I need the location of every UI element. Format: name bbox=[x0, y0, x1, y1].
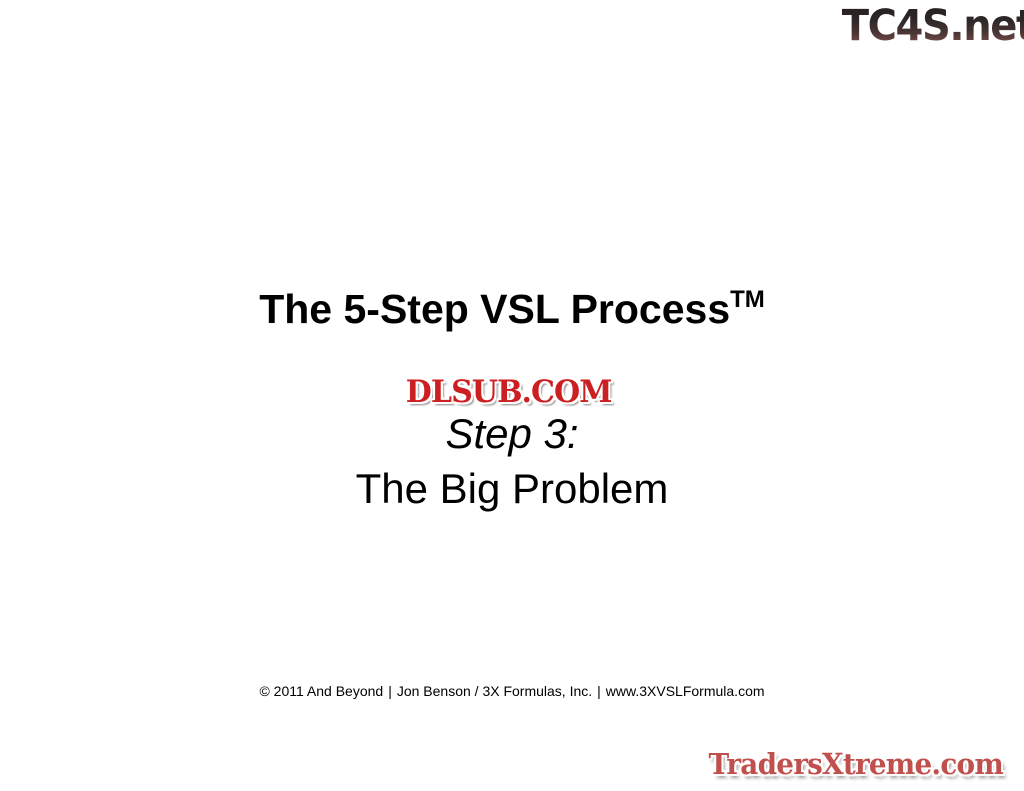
slide-title-text: The 5-Step VSL Process bbox=[259, 286, 730, 332]
footer-separator-1: | bbox=[383, 683, 397, 699]
subtitle-step-number: Step 3: bbox=[0, 406, 1024, 461]
slide-subtitle: Step 3: The Big Problem bbox=[0, 406, 1024, 516]
watermark-dlsub-com: DLSUB.COM bbox=[368, 374, 649, 410]
slide-title: The 5-Step VSL ProcessTM bbox=[0, 276, 1024, 333]
footer-copyright: © 2011 And Beyond bbox=[259, 683, 383, 699]
subtitle-step-name: The Big Problem bbox=[0, 461, 1024, 516]
footer-separator-2: | bbox=[592, 683, 606, 699]
slide-footer: © 2011 And Beyond|Jon Benson / 3X Formul… bbox=[0, 682, 1024, 700]
watermark-tradersxtreme-com: TradersXtreme.com bbox=[706, 746, 1006, 782]
trademark-symbol: TM bbox=[730, 286, 765, 313]
footer-author: Jon Benson / 3X Formulas, Inc. bbox=[397, 683, 592, 699]
presentation-slide: TC4S.net The 5-Step VSL ProcessTM Step 3… bbox=[0, 0, 1024, 791]
watermark-tc4s-net: TC4S.net bbox=[842, 2, 1024, 52]
footer-website: www.3XVSLFormula.com bbox=[606, 683, 765, 699]
